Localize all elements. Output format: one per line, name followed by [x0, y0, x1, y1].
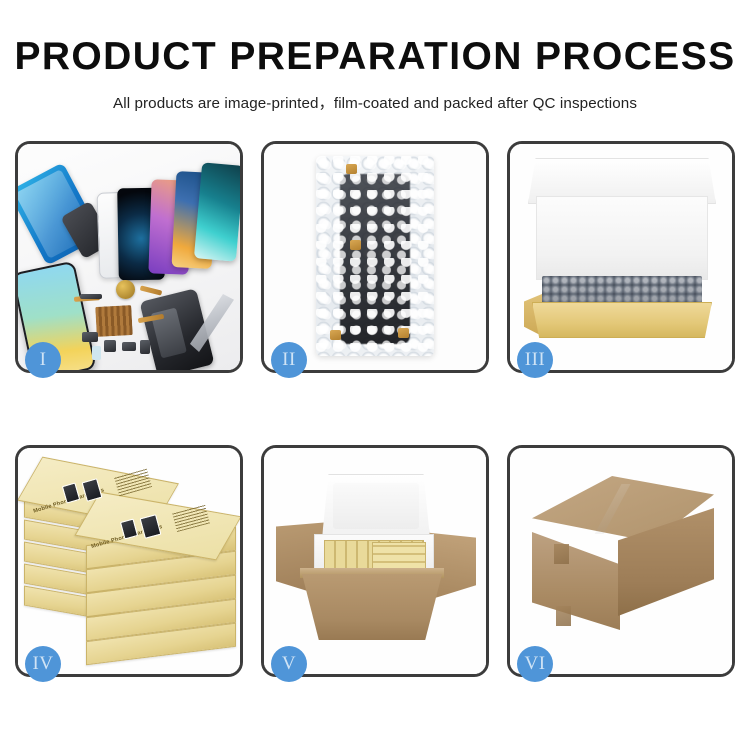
- stacked-boxes-scene: Mobile Phone Spare Parts Mobile Phone Sp…: [18, 448, 240, 674]
- panel-1-image: [18, 144, 240, 370]
- carton-packing-scene: [264, 448, 486, 674]
- carton-tape-lower: [556, 606, 571, 626]
- flex-cable-2: [140, 285, 163, 295]
- step-badge-4: IV: [25, 646, 61, 682]
- process-step-grid: I II: [15, 141, 735, 677]
- small-part-1: [80, 294, 102, 299]
- small-part-2: [82, 332, 98, 342]
- sealed-carton-scene: [510, 448, 732, 674]
- process-step-2: II: [261, 141, 489, 373]
- header: PRODUCT PREPARATION PROCESS All products…: [0, 0, 750, 113]
- panel-2-image: [264, 144, 486, 370]
- box-front-panel: [532, 302, 712, 338]
- carton-left-face: [532, 532, 620, 630]
- tape-piece-1: [346, 164, 357, 174]
- step-badge-1: I: [25, 342, 61, 378]
- small-part-3: [104, 340, 116, 352]
- carton-tape-upper: [554, 544, 569, 564]
- screw-grid-tray: [95, 305, 133, 337]
- small-part-5: [92, 346, 101, 360]
- tape-piece-4: [398, 328, 409, 338]
- page-title: PRODUCT PREPARATION PROCESS: [0, 36, 750, 79]
- tape-piece-3: [330, 330, 341, 340]
- carton-front-panel: [302, 574, 442, 640]
- step-badge-6: VI: [517, 646, 553, 682]
- open-box-scene: [510, 144, 732, 370]
- yellow-boxes-stack: [372, 542, 426, 570]
- bubble-wrapped-contents: [542, 276, 702, 306]
- gold-component: [116, 280, 135, 299]
- panel-5-image: [264, 448, 486, 674]
- process-step-6: VI: [507, 445, 735, 677]
- process-step-5: V: [261, 445, 489, 677]
- small-part-6: [140, 340, 150, 354]
- process-step-3: III: [507, 141, 735, 373]
- process-step-1: I: [15, 141, 243, 373]
- bubble-wrap-scene: [264, 144, 486, 370]
- white-foam-sheet: [536, 196, 708, 280]
- small-part-4: [122, 342, 136, 351]
- product-preparation-infographic: PRODUCT PREPARATION PROCESS All products…: [0, 0, 750, 750]
- foam-box-lid: [322, 474, 430, 538]
- step-badge-5: V: [271, 646, 307, 682]
- panel-4-image: Mobile Phone Spare Parts Mobile Phone Sp…: [18, 448, 240, 674]
- phone-parts-scene: [18, 144, 240, 370]
- panel-6-image: [510, 448, 732, 674]
- process-step-4: Mobile Phone Spare Parts Mobile Phone Sp…: [15, 445, 243, 677]
- bubble-wrap-bag: [316, 156, 434, 356]
- step-badge-2: II: [271, 342, 307, 378]
- page-subtitle: All products are image-printed，film-coat…: [0, 91, 750, 113]
- step-badge-3: III: [517, 342, 553, 378]
- panel-3-image: [510, 144, 732, 370]
- tape-piece-2: [350, 240, 361, 250]
- teal-display-screen: [194, 162, 240, 261]
